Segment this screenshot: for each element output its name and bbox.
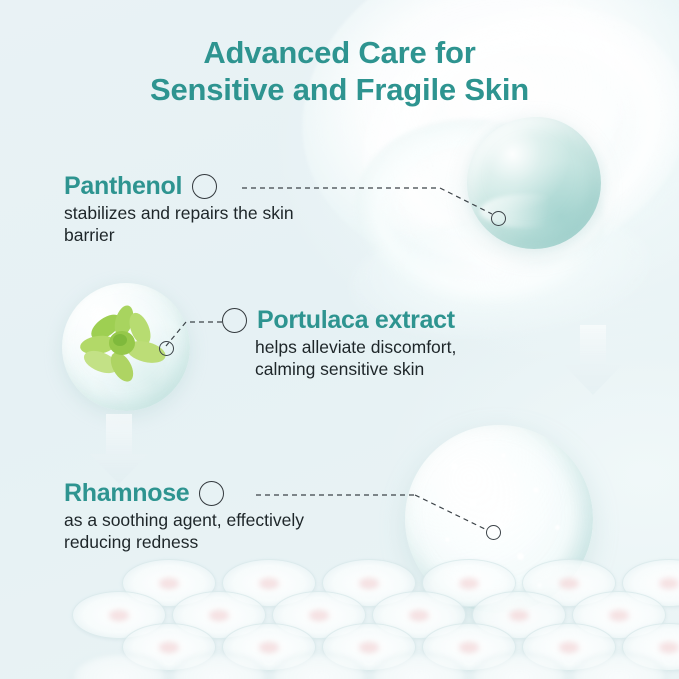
panthenol-target-node: [491, 211, 506, 226]
page-title: Advanced Care for Sensitive and Fragile …: [0, 34, 679, 108]
ingredient-panthenol-description: stabilizes and repairs the skin barrier: [64, 202, 294, 246]
ingredient-portulaca-description: helps alleviate discomfort, calming sens…: [255, 336, 456, 380]
title-line-1: Advanced Care for: [0, 34, 679, 71]
title-line-2: Sensitive and Fragile Skin: [0, 71, 679, 108]
gel-droplet-image: [467, 117, 601, 249]
panthenol-node[interactable]: [192, 174, 217, 199]
down-arrow-icon-right: [562, 325, 624, 397]
ingredient-panthenol: Panthenol stabilizes and repairs the ski…: [64, 172, 294, 246]
ingredient-rhamnose-head: Rhamnose: [64, 479, 304, 507]
ingredient-portulaca-name: Portulaca extract: [257, 306, 455, 334]
infographic-poster: Advanced Care for Sensitive and Fragile …: [0, 0, 679, 679]
ingredient-rhamnose-name: Rhamnose: [64, 479, 189, 507]
portulaca-target-node: [159, 341, 174, 356]
down-arrow-icon-left: [88, 414, 150, 486]
ingredient-rhamnose: Rhamnose as a soothing agent, effectivel…: [64, 479, 304, 553]
rhamnose-node[interactable]: [199, 481, 224, 506]
ingredient-panthenol-name: Panthenol: [64, 172, 182, 200]
rhamnose-target-node: [486, 525, 501, 540]
skin-cell-pattern: [0, 549, 679, 679]
ingredient-portulaca: Portulaca extract helps alleviate discom…: [222, 306, 456, 380]
ingredient-portulaca-head: Portulaca extract: [222, 306, 456, 334]
portulaca-node[interactable]: [222, 308, 247, 333]
ingredient-panthenol-head: Panthenol: [64, 172, 294, 200]
ingredient-rhamnose-description: as a soothing agent, effectively reducin…: [64, 509, 304, 553]
